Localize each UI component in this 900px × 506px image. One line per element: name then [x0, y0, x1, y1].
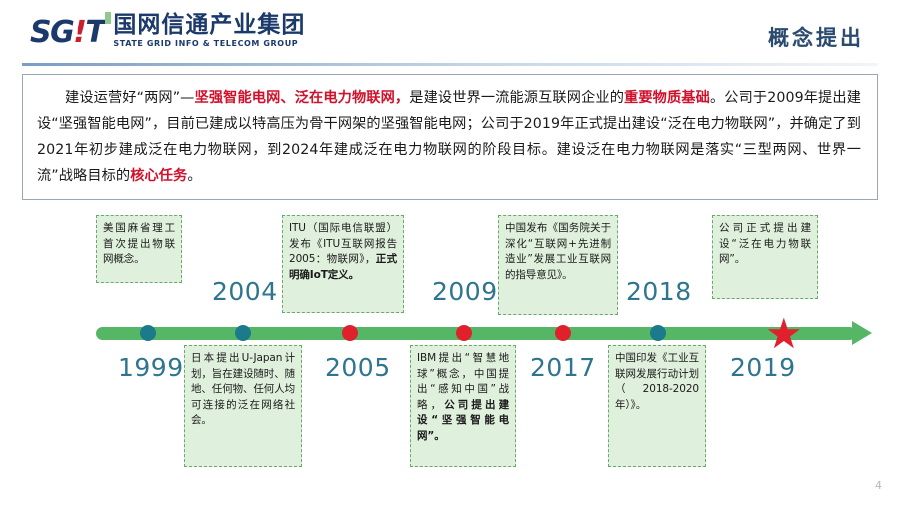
- highlight-text: 核心任务: [130, 168, 187, 184]
- body-text: 。: [187, 168, 201, 184]
- timeline-year-label: 2019: [730, 353, 796, 382]
- logo-text-t: T: [85, 15, 104, 50]
- timeline-dot-marker: [140, 325, 156, 341]
- logo-green-tick-icon: [105, 12, 111, 24]
- body-text: 建设运营好“两网”—: [65, 90, 194, 106]
- timeline-note: 中国印发《工业互联网发展行动计划（2018-2020年）》。: [608, 345, 706, 467]
- timeline-year-label: 2009: [432, 277, 498, 306]
- timeline-star-marker: ★: [765, 317, 799, 351]
- summary-paragraph: 建设运营好“两网”—坚强智能电网、泛在电力物联网，是建设世界一流能源互联网企业的…: [37, 85, 861, 189]
- summary-textbox: 建设运营好“两网”—坚强智能电网、泛在电力物联网，是建设世界一流能源互联网企业的…: [22, 74, 878, 200]
- slide-header: SG!T 国网信通产业集团 STATE GRID INFO & TELECOM …: [0, 0, 900, 66]
- highlight-text: 坚强智能电网、泛在电力物联网，: [194, 90, 409, 106]
- body-text: 是建设世界一流能源互联网企业的: [409, 90, 624, 106]
- timeline-year-label: 2018: [626, 277, 692, 306]
- timeline-note: 美国麻省理工首次提出物联网概念。: [96, 215, 182, 283]
- timeline-year-label: 2004: [212, 277, 278, 306]
- timeline-note: 公司正式提出建设“泛在电力物联网”。: [712, 215, 818, 299]
- timeline-axis: [96, 327, 856, 340]
- timeline-year-label: 2005: [325, 353, 391, 382]
- highlight-text: 重要物质基础: [624, 90, 710, 106]
- header-divider: [22, 63, 878, 66]
- timeline-note: 日本提出U-Japan计划，旨在建设随时、随地、任何物、任何人均可连接的泛在网络…: [184, 345, 302, 467]
- timeline-note: 中国发布《国务院关于深化“互联网+先进制造业”发展工业互联网的指导意见》。: [498, 215, 618, 315]
- timeline-note: ITU（国际电信联盟）发布《ITU互联网报告2005：物联网》，正式明确IoT定…: [282, 215, 404, 313]
- timeline-arrow-icon: [852, 321, 872, 345]
- slide: SG!T 国网信通产业集团 STATE GRID INFO & TELECOM …: [0, 0, 900, 506]
- timeline-dot-marker: [650, 325, 666, 341]
- sgit-logo-mark: SG!T: [30, 18, 104, 48]
- timeline-dot-marker: [235, 325, 251, 341]
- logo-company-name: 国网信通产业集团 STATE GRID INFO & TELECOM GROUP: [113, 14, 305, 48]
- logo-company-name-en: STATE GRID INFO & TELECOM GROUP: [113, 40, 305, 48]
- timeline-note: IBM提出“智慧地球”概念，中国提出“感知中国”战略，公司提出建设“坚强智能电网…: [410, 345, 516, 467]
- timeline: 1999美国麻省理工首次提出物联网概念。2004日本提出U-Japan计划，旨在…: [0, 205, 900, 485]
- timeline-dot-marker: [555, 325, 571, 341]
- page-title: 概念提出: [768, 22, 864, 52]
- company-logo: SG!T 国网信通产业集团 STATE GRID INFO & TELECOM …: [30, 14, 305, 48]
- timeline-year-label: 1999: [118, 353, 184, 382]
- timeline-year-label: 2017: [530, 353, 596, 382]
- timeline-dot-marker: [456, 325, 472, 341]
- logo-company-name-cn: 国网信通产业集团: [113, 14, 305, 37]
- page-number: 4: [875, 479, 882, 492]
- timeline-dot-marker: [342, 325, 358, 341]
- logo-text-sg: SG: [30, 15, 73, 50]
- logo-text-accent: !: [73, 15, 85, 50]
